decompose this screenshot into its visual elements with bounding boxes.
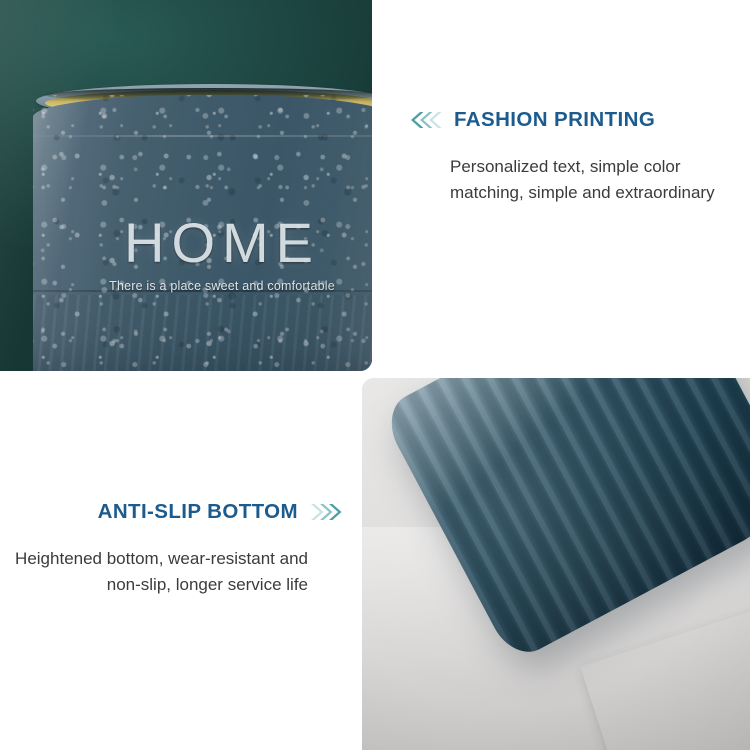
product-feature-page: HOME There is a place sweet and comforta…	[0, 0, 750, 750]
feature-body-text: Personalized text, simple color matching…	[408, 154, 738, 206]
feature-heading-label: FASHION PRINTING	[454, 108, 655, 132]
product-photo-anti-slip-bottom	[362, 378, 750, 750]
feature-block-anti-slip-bottom: ANTI-SLIP BOTTOM Heightened bottom, wear…	[14, 500, 344, 598]
feature-heading-row: ANTI-SLIP BOTTOM	[14, 500, 344, 524]
photo-sheen-overlay	[0, 0, 372, 371]
feature-heading-row: FASHION PRINTING	[408, 108, 738, 132]
feature-body-text: Heightened bottom, wear-resistant and no…	[14, 546, 344, 598]
photo-vignette-overlay	[362, 378, 750, 750]
chevron-left-icon	[408, 111, 442, 129]
product-photo-fashion-printing: HOME There is a place sweet and comforta…	[0, 0, 372, 371]
feature-heading-label: ANTI-SLIP BOTTOM	[98, 500, 298, 524]
chevron-right-icon	[310, 503, 344, 521]
feature-block-fashion-printing: FASHION PRINTING Personalized text, simp…	[408, 108, 738, 206]
